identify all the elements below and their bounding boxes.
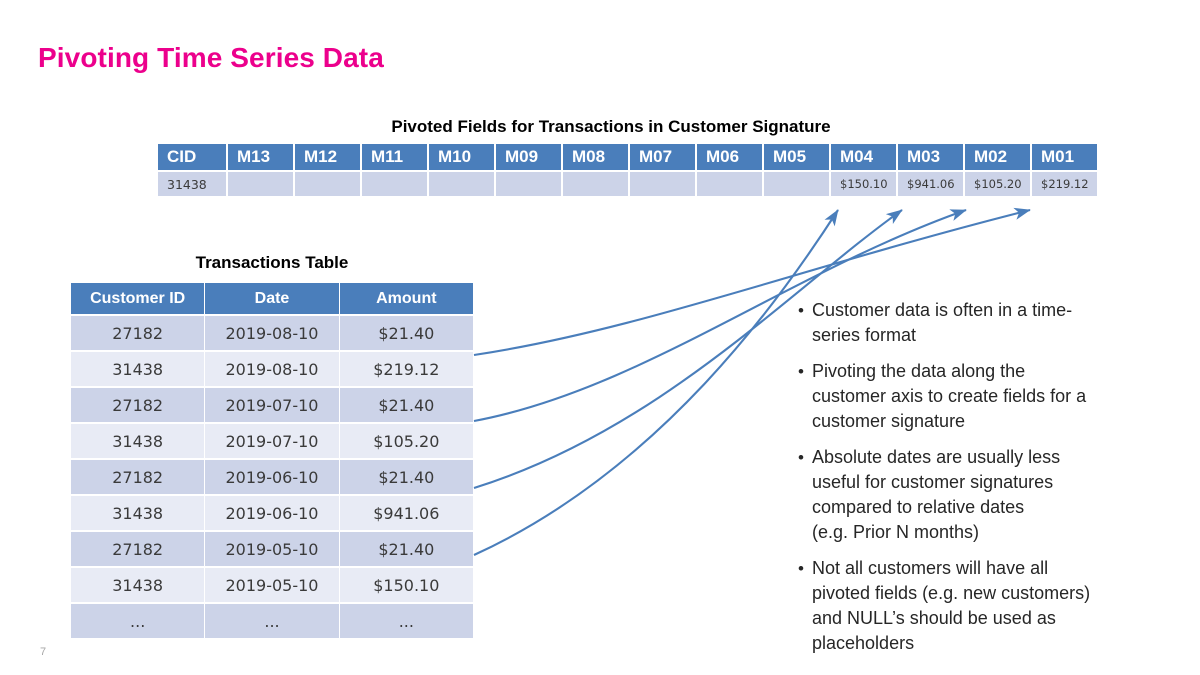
pivot-col-m05: M05 <box>764 144 829 170</box>
trans-cell-date: 2019-06-10 <box>205 496 338 530</box>
pivot-cell-m13 <box>228 172 293 196</box>
trans-cell-customer-id: 27182 <box>71 316 204 350</box>
pivot-col-cid: CID <box>158 144 226 170</box>
trans-cell-customer-id: 31438 <box>71 496 204 530</box>
trans-cell-amount: $105.20 <box>340 424 473 458</box>
pivot-col-m10: M10 <box>429 144 494 170</box>
pivot-cell-m10 <box>429 172 494 196</box>
pivot-cell-m06 <box>697 172 762 196</box>
pivot-col-m03: M03 <box>898 144 963 170</box>
table-row: 31438 $150.10 $941.06 $105.20 $219.12 <box>158 172 1097 196</box>
list-item: • Pivoting the data along the customer a… <box>798 359 1138 434</box>
pivot-col-m07: M07 <box>630 144 695 170</box>
transactions-table: Customer ID Date Amount 27182 2019-08-10… <box>70 281 474 640</box>
pivot-cell-m11 <box>362 172 427 196</box>
trans-cell-customer-id: 31438 <box>71 568 204 602</box>
transactions-table-head: Customer ID Date Amount <box>71 283 473 314</box>
table-row: 31438 2019-06-10 $941.06 <box>71 496 473 530</box>
pivot-col-m13: M13 <box>228 144 293 170</box>
bullet-point-icon: • <box>798 298 812 323</box>
bullet-point-icon: • <box>798 556 812 581</box>
pivot-header-row: CID M13 M12 M11 M10 M09 M08 M07 M06 M05 … <box>158 144 1097 170</box>
trans-cell-amount: ... <box>340 604 473 638</box>
trans-cell-customer-id: ... <box>71 604 204 638</box>
pivot-cell-m03: $941.06 <box>898 172 963 196</box>
bullet-text: Customer data is often in a time- series… <box>812 298 1138 348</box>
pivot-table-head: CID M13 M12 M11 M10 M09 M08 M07 M06 M05 … <box>158 144 1097 170</box>
trans-col-date: Date <box>205 283 338 314</box>
pivot-cell-cid: 31438 <box>158 172 226 196</box>
transactions-table-caption: Transactions Table <box>70 253 474 273</box>
pivot-table-caption: Pivoted Fields for Transactions in Custo… <box>155 117 1067 137</box>
list-item: • Customer data is often in a time- seri… <box>798 298 1138 348</box>
trans-cell-date: 2019-05-10 <box>205 568 338 602</box>
trans-cell-amount: $21.40 <box>340 388 473 422</box>
trans-cell-date: 2019-07-10 <box>205 388 338 422</box>
trans-cell-customer-id: 27182 <box>71 532 204 566</box>
bullet-list: • Customer data is often in a time- seri… <box>798 298 1138 667</box>
trans-cell-amount: $21.40 <box>340 532 473 566</box>
pivot-col-m12: M12 <box>295 144 360 170</box>
pivot-cell-m02: $105.20 <box>965 172 1030 196</box>
table-row: ... ... ... <box>71 604 473 638</box>
trans-cell-amount: $21.40 <box>340 316 473 350</box>
trans-col-amount: Amount <box>340 283 473 314</box>
bullet-text: Absolute dates are usually less useful f… <box>812 445 1138 545</box>
arrow-to-m04 <box>474 210 838 555</box>
pivot-cell-m04: $150.10 <box>831 172 896 196</box>
trans-cell-date: ... <box>205 604 338 638</box>
trans-cell-date: 2019-05-10 <box>205 532 338 566</box>
table-row: 31438 2019-07-10 $105.20 <box>71 424 473 458</box>
trans-cell-customer-id: 27182 <box>71 460 204 494</box>
bullet-text: Not all customers will have all pivoted … <box>812 556 1138 656</box>
transactions-table-body: 27182 2019-08-10 $21.40 31438 2019-08-10… <box>71 316 473 638</box>
list-item: • Not all customers will have all pivote… <box>798 556 1138 656</box>
pivot-table: CID M13 M12 M11 M10 M09 M08 M07 M06 M05 … <box>156 142 1099 198</box>
trans-cell-amount: $150.10 <box>340 568 473 602</box>
trans-cell-customer-id: 27182 <box>71 388 204 422</box>
pivot-col-m04: M04 <box>831 144 896 170</box>
trans-cell-amount: $219.12 <box>340 352 473 386</box>
table-row: 27182 2019-06-10 $21.40 <box>71 460 473 494</box>
table-row: 27182 2019-05-10 $21.40 <box>71 532 473 566</box>
trans-cell-customer-id: 31438 <box>71 352 204 386</box>
pivot-col-m01: M01 <box>1032 144 1097 170</box>
table-row: 27182 2019-08-10 $21.40 <box>71 316 473 350</box>
bullet-point-icon: • <box>798 445 812 470</box>
trans-cell-date: 2019-08-10 <box>205 316 338 350</box>
table-row: 27182 2019-07-10 $21.40 <box>71 388 473 422</box>
pivot-col-m09: M09 <box>496 144 561 170</box>
trans-cell-date: 2019-08-10 <box>205 352 338 386</box>
trans-cell-amount: $941.06 <box>340 496 473 530</box>
bullet-text: Pivoting the data along the customer axi… <box>812 359 1138 434</box>
pivot-col-m11: M11 <box>362 144 427 170</box>
trans-cell-customer-id: 31438 <box>71 424 204 458</box>
table-row: 31438 2019-08-10 $219.12 <box>71 352 473 386</box>
pivot-cell-m07 <box>630 172 695 196</box>
pivot-cell-m09 <box>496 172 561 196</box>
trans-cell-date: 2019-07-10 <box>205 424 338 458</box>
page-number: 7 <box>40 646 46 658</box>
pivot-cell-m12 <box>295 172 360 196</box>
pivot-col-m02: M02 <box>965 144 1030 170</box>
page-title: Pivoting Time Series Data <box>38 42 384 74</box>
pivot-cell-m05 <box>764 172 829 196</box>
table-row: 31438 2019-05-10 $150.10 <box>71 568 473 602</box>
list-item: • Absolute dates are usually less useful… <box>798 445 1138 545</box>
bullet-point-icon: • <box>798 359 812 384</box>
pivot-cell-m01: $219.12 <box>1032 172 1097 196</box>
trans-col-customer-id: Customer ID <box>71 283 204 314</box>
pivot-table-body: 31438 $150.10 $941.06 $105.20 $219.12 <box>158 172 1097 196</box>
transactions-header-row: Customer ID Date Amount <box>71 283 473 314</box>
pivot-cell-m08 <box>563 172 628 196</box>
pivot-col-m08: M08 <box>563 144 628 170</box>
trans-cell-date: 2019-06-10 <box>205 460 338 494</box>
trans-cell-amount: $21.40 <box>340 460 473 494</box>
pivot-col-m06: M06 <box>697 144 762 170</box>
